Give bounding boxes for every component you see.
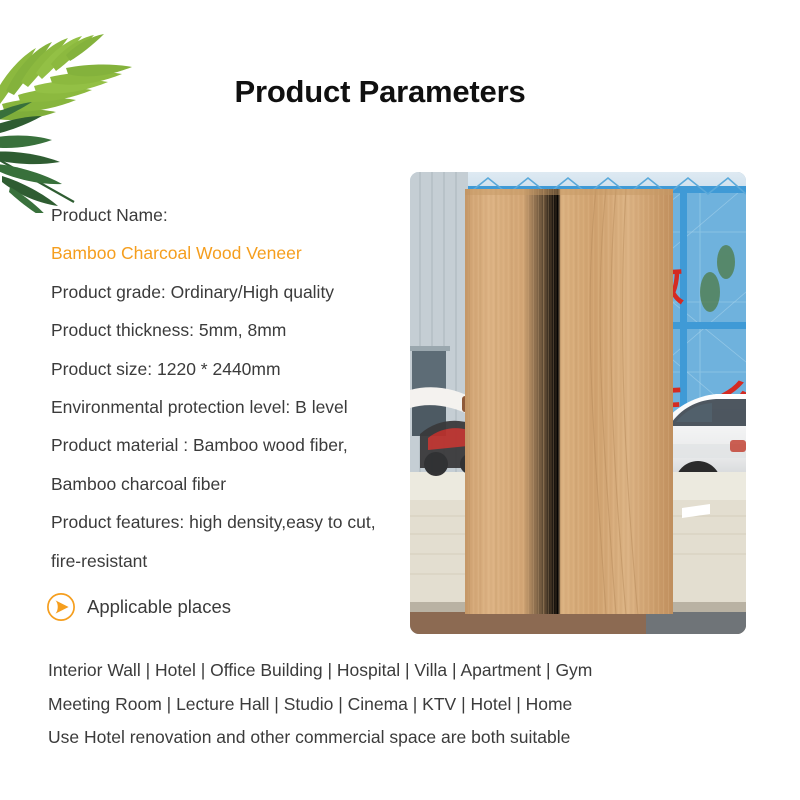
spec-line-product-features: Product features: high density,easy to c… (51, 503, 401, 541)
places-line-1: Interior Wall | Hotel | Office Building … (48, 654, 748, 688)
places-line-2: Meeting Room | Lecture Hall | Studio | C… (48, 688, 748, 722)
product-photo: 做 在 匚 彳 (410, 172, 746, 634)
arrow-circle-right-icon (46, 592, 76, 622)
spec-line-product-material-cont: Bamboo charcoal fiber (51, 465, 401, 503)
spec-line-product-size: Product size: 1220 * 2440mm (51, 350, 401, 388)
spec-line-product-material: Product material : Bamboo wood fiber, (51, 426, 401, 464)
places-line-3: Use Hotel renovation and other commercia… (48, 721, 748, 755)
spec-line-product-grade: Product grade: Ordinary/High quality (51, 273, 401, 311)
product-parameters-page: Product Parameters Product Name: Bamboo … (0, 0, 800, 800)
spec-line-environmental-level: Environmental protection level: B level (51, 388, 401, 426)
applicable-places-heading: Applicable places (46, 592, 231, 622)
spec-line-product-thickness: Product thickness: 5mm, 8mm (51, 311, 401, 349)
applicable-places-label: Applicable places (87, 596, 231, 618)
spec-line-product-name-value: Bamboo Charcoal Wood Veneer (51, 234, 401, 272)
spec-line-product-features-cont: fire-resistant (51, 542, 401, 580)
palm-leaf-icon (0, 28, 144, 213)
spec-line-product-name-label: Product Name: (51, 196, 401, 234)
applicable-places-list: Interior Wall | Hotel | Office Building … (48, 654, 748, 755)
page-title: Product Parameters (0, 74, 760, 110)
specification-list: Product Name: Bamboo Charcoal Wood Venee… (51, 196, 401, 580)
